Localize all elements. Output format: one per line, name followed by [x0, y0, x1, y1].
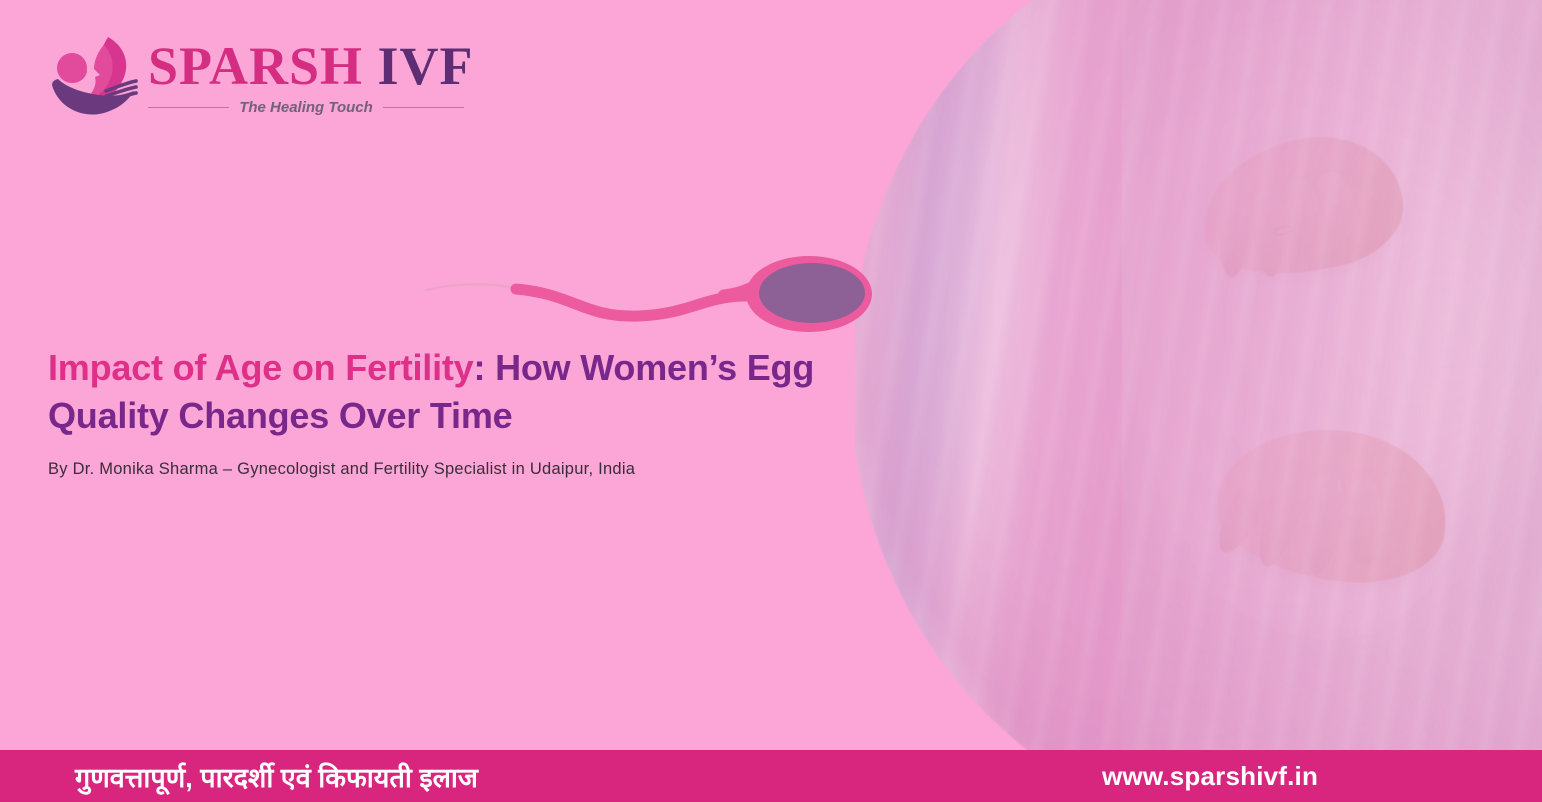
page-title: Impact of Age on Fertility: How Women’s … — [48, 344, 818, 440]
brand-tagline: The Healing Touch — [239, 99, 373, 116]
blog-banner: SPARSH IVF The Healing Touch Impact of A… — [0, 0, 1542, 802]
brand-name-secondary: IVF — [378, 36, 474, 96]
egg-cell-rim-glow — [855, 0, 1542, 752]
sperm-illustration — [424, 252, 874, 332]
footer-bar: गुणवत्तापूर्ण, पारदर्शी एवं किफायती इलाज… — [0, 750, 1542, 802]
hand-mother-child-icon — [48, 33, 140, 121]
headline-block: Impact of Age on Fertility: How Women’s … — [48, 344, 818, 479]
brand-name-primary: SPARSH — [148, 36, 363, 96]
brand-wordmark: SPARSH IVF The Healing Touch — [148, 35, 468, 125]
brand-name: SPARSH IVF — [148, 35, 468, 97]
tagline-rule-left — [148, 107, 229, 108]
footer-website-url[interactable]: www.sparshivf.in — [1102, 761, 1318, 792]
author-byline: By Dr. Monika Sharma – Gynecologist and … — [48, 460, 818, 479]
footer-slogan: गुणवत्तापूर्ण, पारदर्शी एवं किफायती इलाज — [75, 758, 478, 795]
tagline-rule-right — [383, 107, 464, 108]
page-title-accent: Impact of Age on Fertility — [48, 347, 474, 388]
artwork-photo-area — [855, 0, 1542, 752]
brand-logo[interactable]: SPARSH IVF The Healing Touch — [48, 33, 468, 125]
brand-tagline-row: The Healing Touch — [148, 99, 464, 116]
